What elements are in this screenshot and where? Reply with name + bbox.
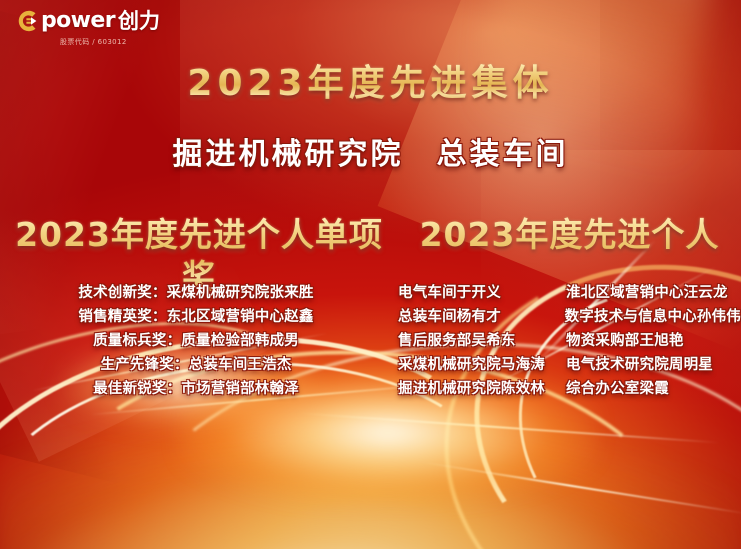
brand-logo: power 创力 股票代码 / 603012 bbox=[14, 8, 160, 47]
list-item-name-a: 掘进机械研究院陈效林 bbox=[398, 379, 566, 400]
list-item: 售后服务部吴希东 物资采购部王旭艳 bbox=[398, 331, 741, 352]
list-item: 最佳新锐奖：市场营销部林翰泽 bbox=[93, 379, 299, 400]
list-item: 销售精英奖：东北区域营销中心赵鑫 bbox=[78, 307, 313, 328]
page-subtitle: 掘进机械研究院 总装车间 bbox=[0, 135, 741, 175]
list-item: 采煤机械研究院马海涛 电气技术研究院周明星 bbox=[398, 355, 741, 376]
list-item-name-a: 电气车间于开义 bbox=[398, 283, 566, 304]
page-title: 2023年度先进集体 bbox=[0, 62, 741, 106]
list-item-name-a: 采煤机械研究院马海涛 bbox=[398, 355, 566, 376]
brand-logo-row: power 创力 bbox=[14, 8, 160, 34]
award-list-left: 技术创新奖：采煤机械研究院张来胜 销售精英奖：东北区域营销中心赵鑫 质量标兵奖：… bbox=[0, 283, 392, 400]
list-item: 生产先锋奖：总装车间王浩杰 bbox=[100, 355, 291, 376]
award-list-right: 电气车间于开义 淮北区域营销中心汪云龙 总装车间杨有才 数字技术与信息中心孙伟伟… bbox=[392, 283, 741, 400]
brand-wordmark-cn: 创力 bbox=[118, 8, 160, 34]
list-item-name-b: 电气技术研究院周明星 bbox=[566, 355, 713, 376]
list-item-name-a: 总装车间杨有才 bbox=[398, 307, 565, 328]
list-item: 技术创新奖：采煤机械研究院张来胜 bbox=[78, 283, 313, 304]
list-item: 掘进机械研究院陈效林 综合办公室梁霞 bbox=[398, 379, 741, 400]
list-item-name-b: 数字技术与信息中心孙伟伟 bbox=[565, 307, 741, 328]
poster-content: power 创力 股票代码 / 603012 2023年度先进集体 掘进机械研究… bbox=[0, 0, 741, 549]
award-columns: 技术创新奖：采煤机械研究院张来胜 销售精英奖：东北区域营销中心赵鑫 质量标兵奖：… bbox=[0, 283, 741, 400]
poster-canvas: power 创力 股票代码 / 603012 2023年度先进集体 掘进机械研究… bbox=[0, 0, 741, 549]
stock-code-label: 股票代码 / 603012 bbox=[60, 37, 127, 47]
list-item-name-a: 售后服务部吴希东 bbox=[398, 331, 566, 352]
brand-wordmark: power bbox=[41, 8, 115, 34]
list-item-name-b: 综合办公室梁霞 bbox=[566, 379, 669, 400]
list-item: 电气车间于开义 淮北区域营销中心汪云龙 bbox=[398, 283, 741, 304]
c-power-ring-icon bbox=[14, 8, 40, 34]
list-item-name-b: 物资采购部王旭艳 bbox=[566, 331, 684, 352]
list-item: 总装车间杨有才 数字技术与信息中心孙伟伟 bbox=[398, 307, 741, 328]
list-item-name-b: 淮北区域营销中心汪云龙 bbox=[566, 283, 728, 304]
list-item: 质量标兵奖：质量检验部韩成男 bbox=[93, 331, 299, 352]
